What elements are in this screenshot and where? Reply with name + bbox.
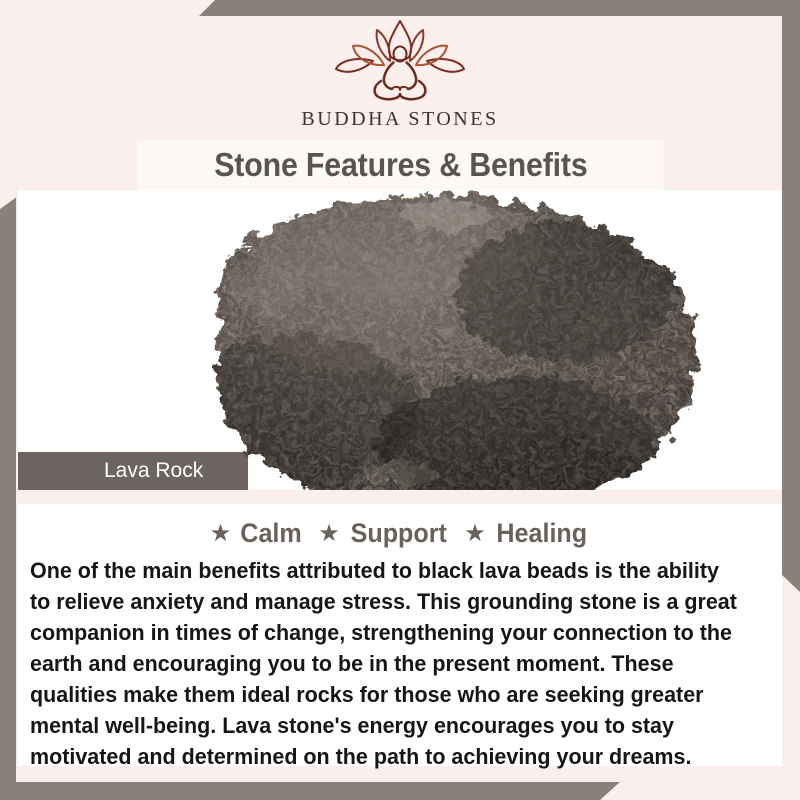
benefit-label-support: Support [350,518,446,549]
benefit-item-calm: ★ Calm [210,518,305,549]
photo-caption-label: Lava Rock [18,459,203,483]
benefit-label-healing: Healing [496,518,587,549]
lava-rock-photo [18,190,782,496]
content-card: ★ Calm ★ Support ★ Healing One of the ma… [18,504,782,766]
benefit-label-calm: Calm [241,518,302,549]
photo-caption-bar: Lava Rock [18,452,248,490]
star-icon: ★ [210,522,232,546]
benefit-item-support: ★ Support [318,518,450,549]
body-paragraph: One of the main benefits attributed to b… [30,555,739,772]
frame-band-bottom [0,782,620,800]
benefits-row: ★ Calm ★ Support ★ Healing [18,504,782,549]
brand-logo: BUDDHA STONES [0,12,800,131]
title-banner: Stone Features & Benefits [137,140,664,190]
lotus-meditation-icon [325,12,475,104]
poster: BUDDHA STONES Stone Features & Benefits [0,0,800,800]
star-icon: ★ [318,522,340,546]
page-title: Stone Features & Benefits [214,146,587,184]
rock-illustration [96,190,736,496]
benefit-item-healing: ★ Healing [464,518,590,549]
brand-wordmark: BUDDHA STONES [0,108,800,131]
star-icon: ★ [464,522,486,546]
photo-underline-strip [18,490,782,504]
